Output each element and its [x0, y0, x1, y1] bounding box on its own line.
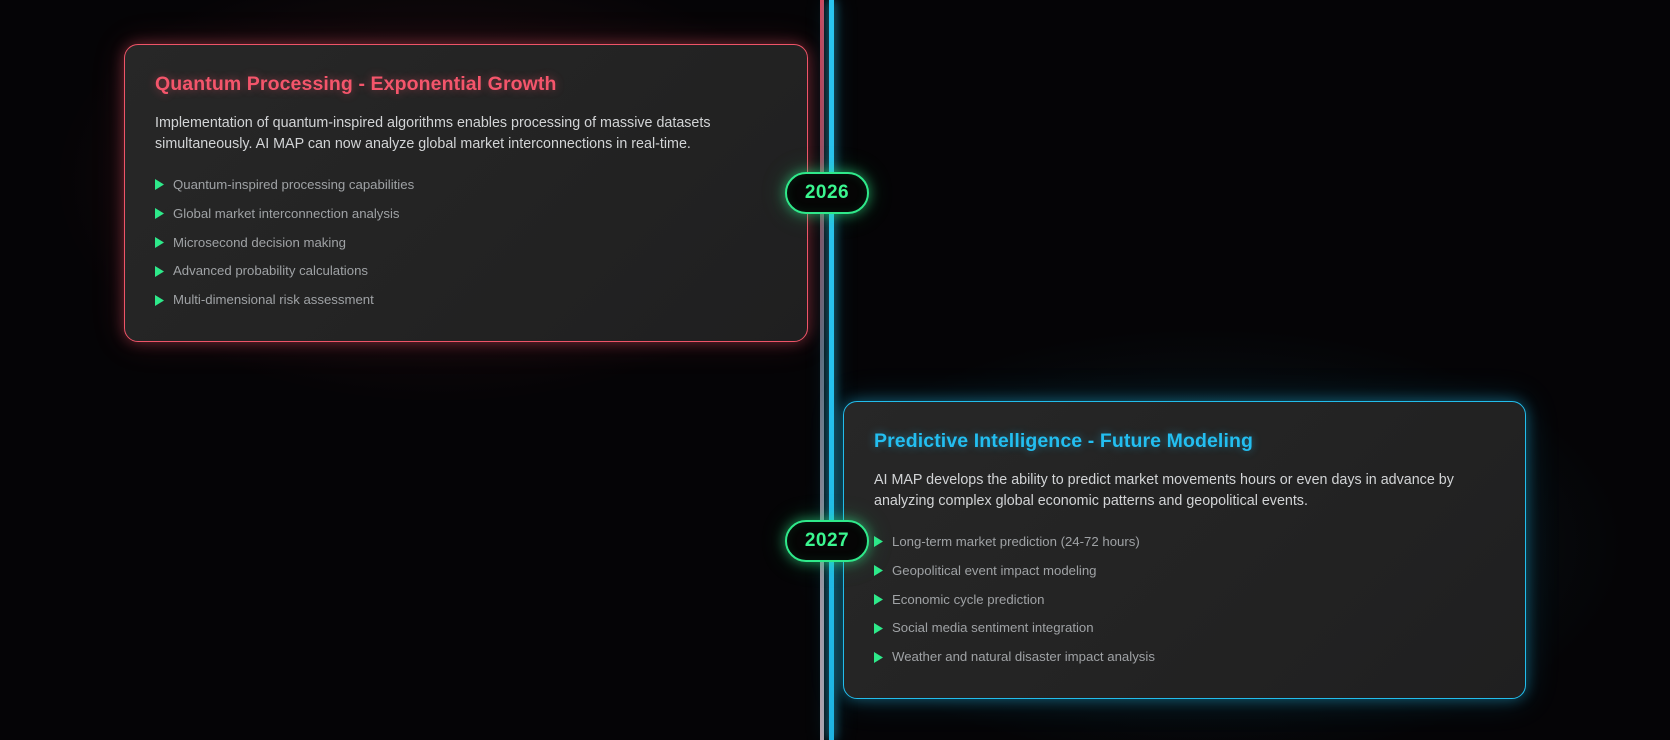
- feature-label: Weather and natural disaster impact anal…: [892, 648, 1155, 666]
- feature-label: Long-term market prediction (24-72 hours…: [892, 533, 1140, 551]
- feature-item: Multi-dimensional risk assessment: [155, 291, 777, 309]
- timeline-strand-left: [820, 0, 824, 740]
- feature-label: Quantum-inspired processing capabilities: [173, 176, 414, 194]
- card-description: AI MAP develops the ability to predict m…: [874, 470, 1474, 513]
- triangle-right-icon: [874, 565, 883, 576]
- feature-label: Multi-dimensional risk assessment: [173, 291, 374, 309]
- feature-item: Advanced probability calculations: [155, 262, 777, 280]
- feature-label: Global market interconnection analysis: [173, 205, 400, 223]
- feature-list: Long-term market prediction (24-72 hours…: [874, 533, 1495, 666]
- triangle-right-icon: [155, 266, 164, 277]
- feature-item: Global market interconnection analysis: [155, 205, 777, 223]
- triangle-right-icon: [155, 295, 164, 306]
- feature-list: Quantum-inspired processing capabilities…: [155, 176, 777, 309]
- year-badge-label: 2027: [805, 530, 849, 552]
- year-badge-2026[interactable]: 2026: [785, 172, 869, 214]
- feature-label: Geopolitical event impact modeling: [892, 562, 1097, 580]
- feature-item: Economic cycle prediction: [874, 591, 1495, 609]
- feature-label: Social media sentiment integration: [892, 619, 1094, 637]
- feature-item: Long-term market prediction (24-72 hours…: [874, 533, 1495, 551]
- triangle-right-icon: [155, 208, 164, 219]
- triangle-right-icon: [155, 179, 164, 190]
- feature-item: Social media sentiment integration: [874, 619, 1495, 637]
- feature-label: Economic cycle prediction: [892, 591, 1044, 609]
- feature-item: Geopolitical event impact modeling: [874, 562, 1495, 580]
- card-title: Predictive Intelligence - Future Modelin…: [874, 430, 1495, 453]
- card-description: Implementation of quantum-inspired algor…: [155, 113, 755, 156]
- triangle-right-icon: [874, 594, 883, 605]
- feature-label: Microsecond decision making: [173, 234, 346, 252]
- card-title: Quantum Processing - Exponential Growth: [155, 73, 777, 96]
- feature-label: Advanced probability calculations: [173, 262, 368, 280]
- timeline-strand-right: [829, 0, 834, 740]
- timeline-card-2026[interactable]: Quantum Processing - Exponential Growth …: [124, 44, 808, 342]
- triangle-right-icon: [874, 623, 883, 634]
- feature-item: Quantum-inspired processing capabilities: [155, 176, 777, 194]
- timeline-card-2027[interactable]: Predictive Intelligence - Future Modelin…: [843, 401, 1526, 699]
- triangle-right-icon: [874, 536, 883, 547]
- feature-item: Weather and natural disaster impact anal…: [874, 648, 1495, 666]
- triangle-right-icon: [874, 652, 883, 663]
- feature-item: Microsecond decision making: [155, 234, 777, 252]
- triangle-right-icon: [155, 237, 164, 248]
- year-badge-label: 2026: [805, 182, 849, 204]
- year-badge-2027[interactable]: 2027: [785, 520, 869, 562]
